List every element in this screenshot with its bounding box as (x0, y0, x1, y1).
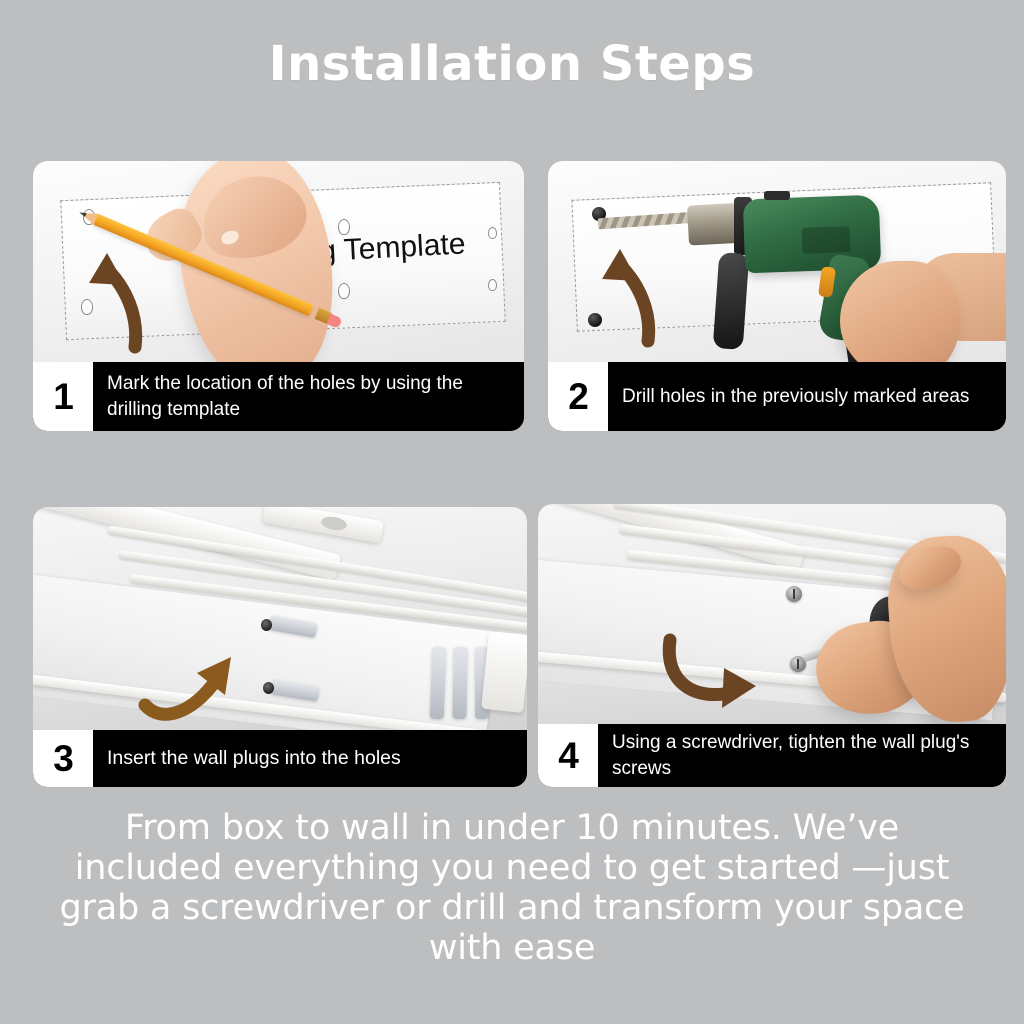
step-4-photo (538, 504, 1006, 724)
step-3-scene (33, 507, 527, 730)
rack-bracket (481, 631, 527, 713)
hole-marker (488, 279, 497, 291)
page-title: Installation Steps (0, 36, 1024, 92)
hole-marker (338, 283, 350, 299)
step-1-photo: Driling Template (33, 161, 524, 362)
step-3-photo (33, 507, 527, 730)
step-panel-2: 2 Drill holes in the previously marked a… (548, 161, 1006, 431)
plug-head (263, 682, 274, 694)
hole-marker (488, 227, 497, 239)
step-panel-3: 3 Insert the wall plugs into the holes (33, 507, 527, 787)
step-panel-4: 4 Using a screwdriver, tighten the wall … (538, 504, 1006, 787)
wall-plug-loose (452, 647, 467, 719)
drill-switch (764, 191, 790, 200)
step-2-scene (548, 161, 1006, 362)
step-3-caption-bar: 3 Insert the wall plugs into the holes (33, 730, 527, 787)
step-1-caption: Mark the location of the holes by using … (93, 362, 524, 431)
wall-plug-loose (430, 647, 447, 719)
step-number-1: 1 (33, 362, 93, 431)
step-2-caption-bar: 2 Drill holes in the previously marked a… (548, 362, 1006, 431)
step-3-caption: Insert the wall plugs into the holes (93, 730, 413, 787)
plug-head (261, 619, 272, 631)
step-panel-1: Driling Template 1 Mark the location of … (33, 161, 524, 431)
step-number-2: 2 (548, 362, 608, 431)
step-2-caption: Drill holes in the previously marked are… (608, 362, 981, 431)
curved-arrow-right-icon (660, 626, 780, 710)
curved-arrow-up-icon (588, 227, 668, 349)
step-number-4: 4 (538, 724, 598, 787)
step-4-caption: Using a screwdriver, tighten the wall pl… (598, 724, 1006, 787)
step-4-scene (538, 504, 1006, 724)
curved-arrow-up-right-icon (139, 643, 249, 721)
mounted-screw (786, 586, 802, 602)
hand (840, 261, 960, 362)
curved-arrow-up-icon (73, 229, 153, 354)
footer-description: From box to wall in under 10 minutes. We… (50, 808, 974, 968)
drill-vent (802, 226, 851, 254)
step-1-caption-bar: 1 Mark the location of the holes by usin… (33, 362, 524, 431)
step-4-caption-bar: 4 Using a screwdriver, tighten the wall … (538, 724, 1006, 787)
step-2-photo (548, 161, 1006, 362)
step-1-scene: Driling Template (33, 161, 524, 362)
step-number-3: 3 (33, 730, 93, 787)
